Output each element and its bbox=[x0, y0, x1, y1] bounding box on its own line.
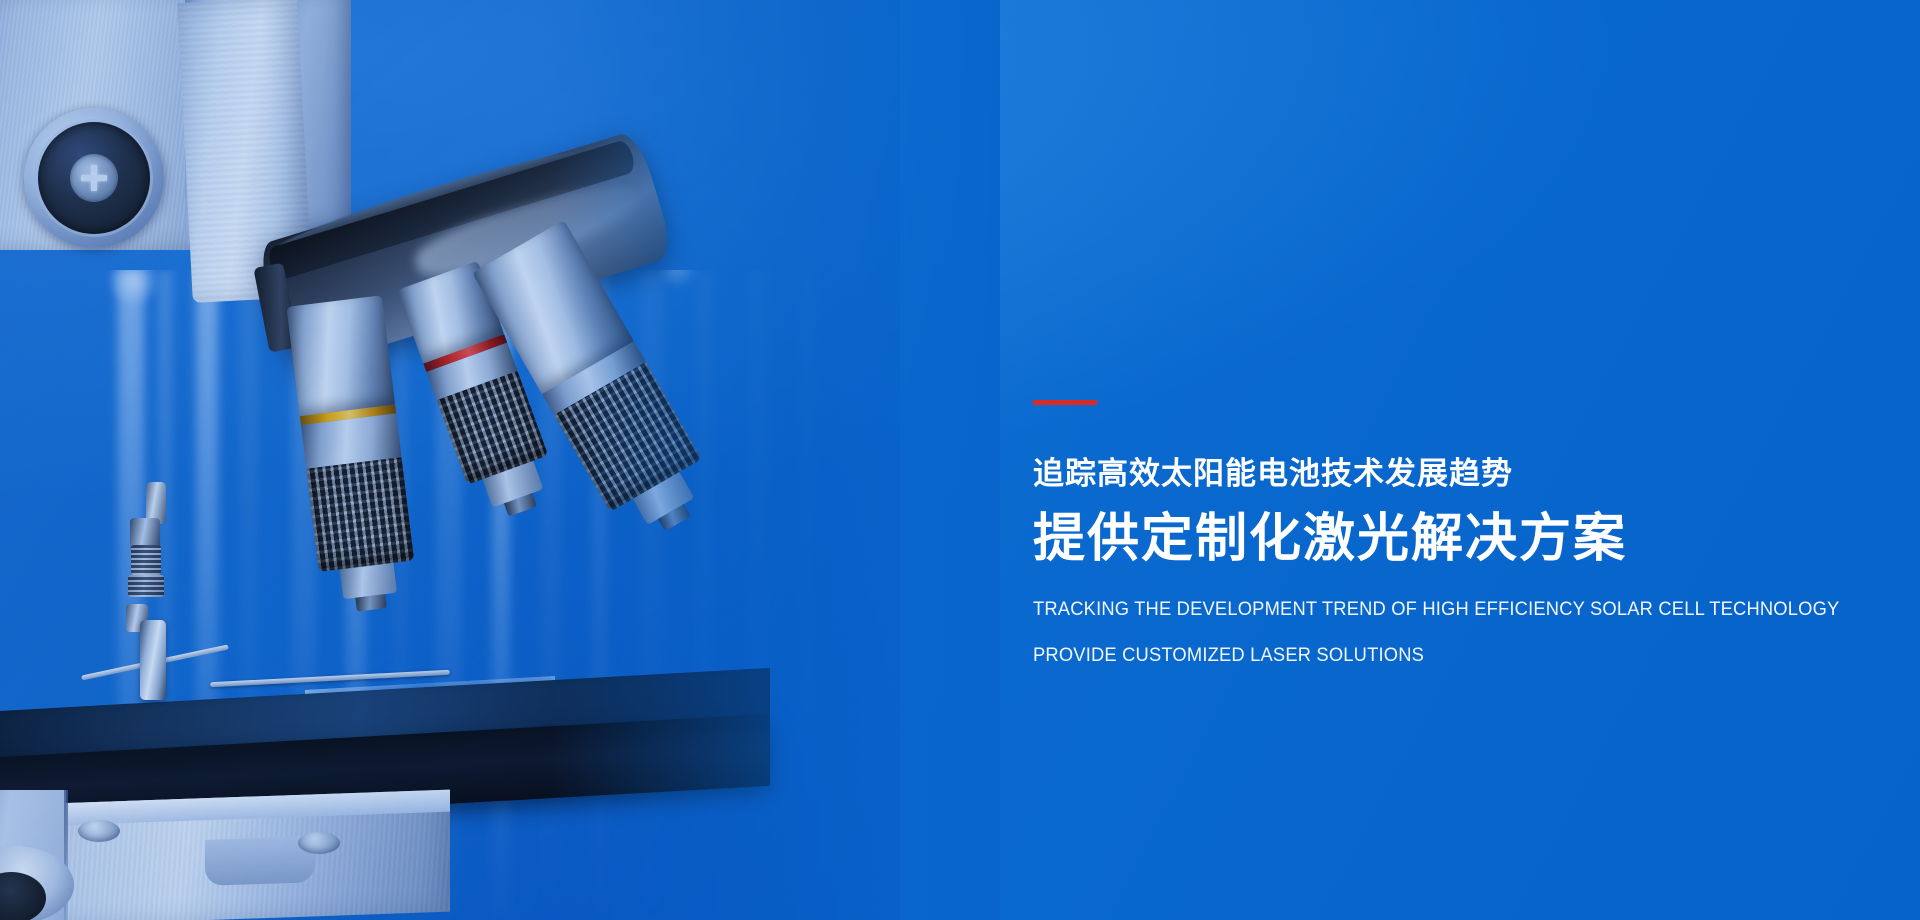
microscope-foot bbox=[78, 820, 120, 842]
focus-knob-screw bbox=[70, 154, 118, 202]
accent-bar bbox=[1033, 400, 1097, 405]
hero-banner: 追踪高效太阳能电池技术发展趋势 提供定制化激光解决方案 TRACKING THE… bbox=[0, 0, 1920, 920]
objective-knurling bbox=[306, 457, 414, 572]
hero-subtitle-en-line1: TRACKING THE DEVELOPMENT TREND OF HIGH E… bbox=[1033, 600, 1823, 620]
microscope-foot bbox=[298, 832, 340, 854]
hero-subheadline-cn: 追踪高效太阳能电池技术发展趋势 bbox=[1033, 458, 1873, 489]
objective-lens-yellow bbox=[286, 295, 419, 615]
screw-cross-icon bbox=[81, 165, 107, 191]
objective-barrel bbox=[286, 295, 395, 416]
focus-knob-inner bbox=[38, 122, 150, 234]
stage-post bbox=[140, 620, 166, 700]
hero-subtitle-en-line2: PROVIDE CUSTOMIZED LASER SOLUTIONS bbox=[1033, 646, 1823, 666]
focus-knob bbox=[24, 108, 164, 248]
stage-control-knurl bbox=[131, 545, 161, 575]
stage-control-knurl-lower bbox=[128, 575, 164, 597]
hero-copy-block: 追踪高效太阳能电池技术发展趋势 提供定制化激光解决方案 TRACKING THE… bbox=[1033, 400, 1873, 665]
hero-headline-cn: 提供定制化激光解决方案 bbox=[1033, 511, 1873, 568]
objective-front-lens bbox=[355, 594, 386, 612]
objective-tip bbox=[340, 563, 397, 599]
microscope-image bbox=[0, 0, 880, 920]
